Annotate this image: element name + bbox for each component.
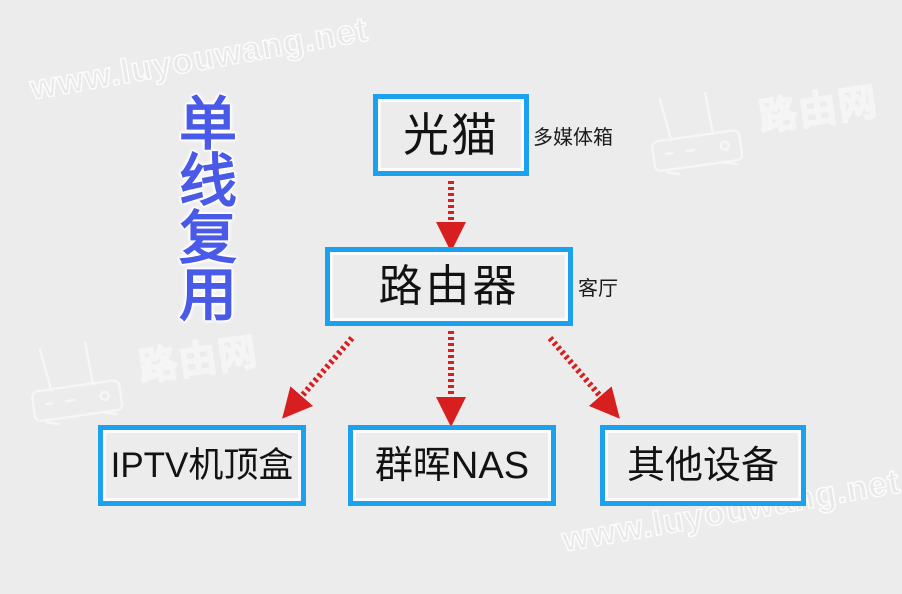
diagram-canvas: www.luyouwang.net www.luyouwang.net 路由网 bbox=[0, 0, 902, 594]
node-nas-label: 群晖NAS bbox=[375, 447, 529, 485]
node-nas[interactable]: 群晖NAS bbox=[348, 425, 556, 506]
node-other[interactable]: 其他设备 bbox=[600, 425, 806, 506]
node-router-label: 路由器 bbox=[379, 265, 520, 309]
node-modem[interactable]: 光猫 bbox=[373, 94, 529, 176]
node-modem-label: 光猫 bbox=[403, 112, 499, 158]
node-other-label: 其他设备 bbox=[627, 447, 779, 485]
node-iptv-label: IPTV机顶盒 bbox=[111, 448, 294, 483]
node-router[interactable]: 路由器 bbox=[325, 247, 573, 326]
edge-router-to-iptv bbox=[288, 338, 352, 412]
node-modem-caption: 多媒体箱 bbox=[533, 121, 613, 150]
node-iptv[interactable]: IPTV机顶盒 bbox=[98, 425, 306, 506]
edge-router-to-other bbox=[550, 338, 614, 412]
node-router-caption: 客厅 bbox=[578, 272, 618, 301]
